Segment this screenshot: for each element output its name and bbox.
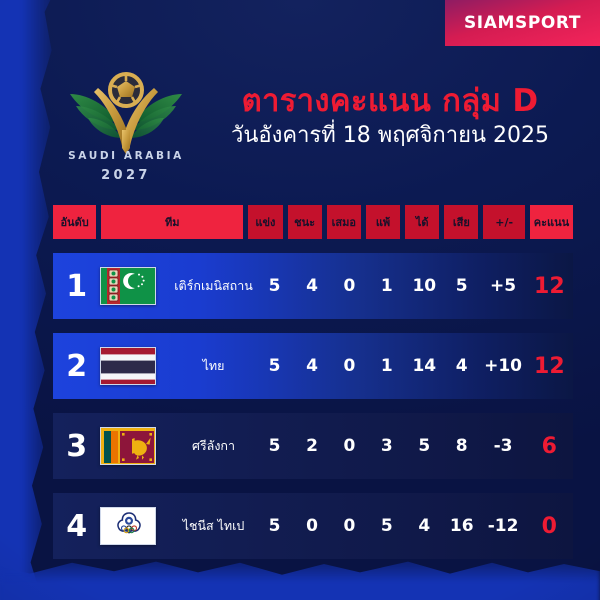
row-gd: +5 [480, 276, 525, 296]
flag-thailand-icon [100, 347, 171, 385]
table-row[interactable]: 1 [53, 253, 573, 319]
standings-table: อันดับ ทีม แข่ง ชนะ เสมอ แพ้ ได้ เสีย +/… [0, 205, 600, 559]
row-gf: 10 [406, 276, 443, 296]
row-team-name: ไชนีส ไทเป [171, 516, 256, 536]
row-ga: 4 [443, 356, 480, 376]
column-header-loss: แพ้ [366, 205, 400, 239]
row-draw: 0 [331, 356, 368, 376]
column-header-draw: เสมอ [327, 205, 361, 239]
title-block: ตารางคะแนน กลุ่ม D วันอังคารที่ 18 พฤศจิ… [190, 84, 590, 149]
table-row[interactable]: 4 [53, 493, 573, 559]
row-rank: 1 [53, 269, 100, 304]
table-row[interactable]: 2 ไทย 5 4 0 1 14 4 +10 12 [53, 333, 573, 399]
row-draw: 0 [331, 516, 368, 536]
column-header-win: ชนะ [288, 205, 322, 239]
table-header-row: อันดับ ทีม แข่ง ชนะ เสมอ แพ้ ได้ เสีย +/… [53, 205, 573, 239]
row-team-name: เติร์กเมนิสถาน [171, 276, 256, 296]
column-header-team: ทีม [101, 205, 243, 239]
row-rank: 3 [53, 429, 100, 464]
row-played: 5 [256, 436, 293, 456]
row-loss: 1 [368, 356, 405, 376]
page-subtitle: วันอังคารที่ 18 พฤศจิกายน 2025 [190, 123, 590, 149]
column-header-ga: เสีย [444, 205, 478, 239]
row-points: 0 [526, 514, 573, 539]
row-win: 4 [293, 276, 330, 296]
row-loss: 5 [368, 516, 405, 536]
logo-year-label: 2027 [62, 168, 190, 183]
flag-chinese-taipei-icon [100, 507, 171, 545]
row-played: 5 [256, 276, 293, 296]
tournament-logo: SAUDI ARABIA 2027 [62, 68, 190, 190]
table-row[interactable]: 3 [53, 413, 573, 479]
row-win: 4 [293, 356, 330, 376]
row-rank: 4 [53, 509, 100, 544]
flag-sri-lanka-icon [100, 427, 171, 465]
row-gf: 5 [406, 436, 443, 456]
siamsport-brand-badge: SIAMSPORT [445, 0, 600, 46]
siamsport-label: SIAMSPORT [464, 13, 581, 33]
row-win: 2 [293, 436, 330, 456]
row-played: 5 [256, 516, 293, 536]
row-ga: 8 [443, 436, 480, 456]
row-loss: 1 [368, 276, 405, 296]
row-gf: 14 [406, 356, 443, 376]
column-header-rank: อันดับ [53, 205, 96, 239]
column-header-played: แข่ง [248, 205, 282, 239]
row-team-name: ศรีลังกา [171, 436, 256, 456]
page-title: ตารางคะแนน กลุ่ม D [190, 84, 590, 119]
column-header-gd: +/- [483, 205, 524, 239]
row-loss: 3 [368, 436, 405, 456]
page-header: SAUDI ARABIA 2027 ตารางคะแนน กลุ่ม D วัน… [0, 60, 600, 195]
row-points: 12 [526, 354, 573, 379]
row-win: 0 [293, 516, 330, 536]
row-gf: 4 [406, 516, 443, 536]
row-team-name: ไทย [171, 356, 256, 376]
row-gd: +10 [480, 356, 525, 376]
row-points: 12 [526, 274, 573, 299]
column-header-points: คะแนน [530, 205, 573, 239]
column-header-gf: ได้ [405, 205, 439, 239]
row-played: 5 [256, 356, 293, 376]
row-ga: 5 [443, 276, 480, 296]
row-gd: -3 [480, 436, 525, 456]
logo-country-label: SAUDI ARABIA [62, 150, 190, 162]
row-rank: 2 [53, 349, 100, 384]
row-draw: 0 [331, 276, 368, 296]
row-draw: 0 [331, 436, 368, 456]
flag-turkmenistan-icon [100, 267, 171, 305]
saudi-arabia-2027-emblem-icon [62, 68, 190, 156]
row-points: 6 [526, 434, 573, 459]
row-gd: -12 [480, 516, 525, 536]
row-ga: 16 [443, 516, 480, 536]
